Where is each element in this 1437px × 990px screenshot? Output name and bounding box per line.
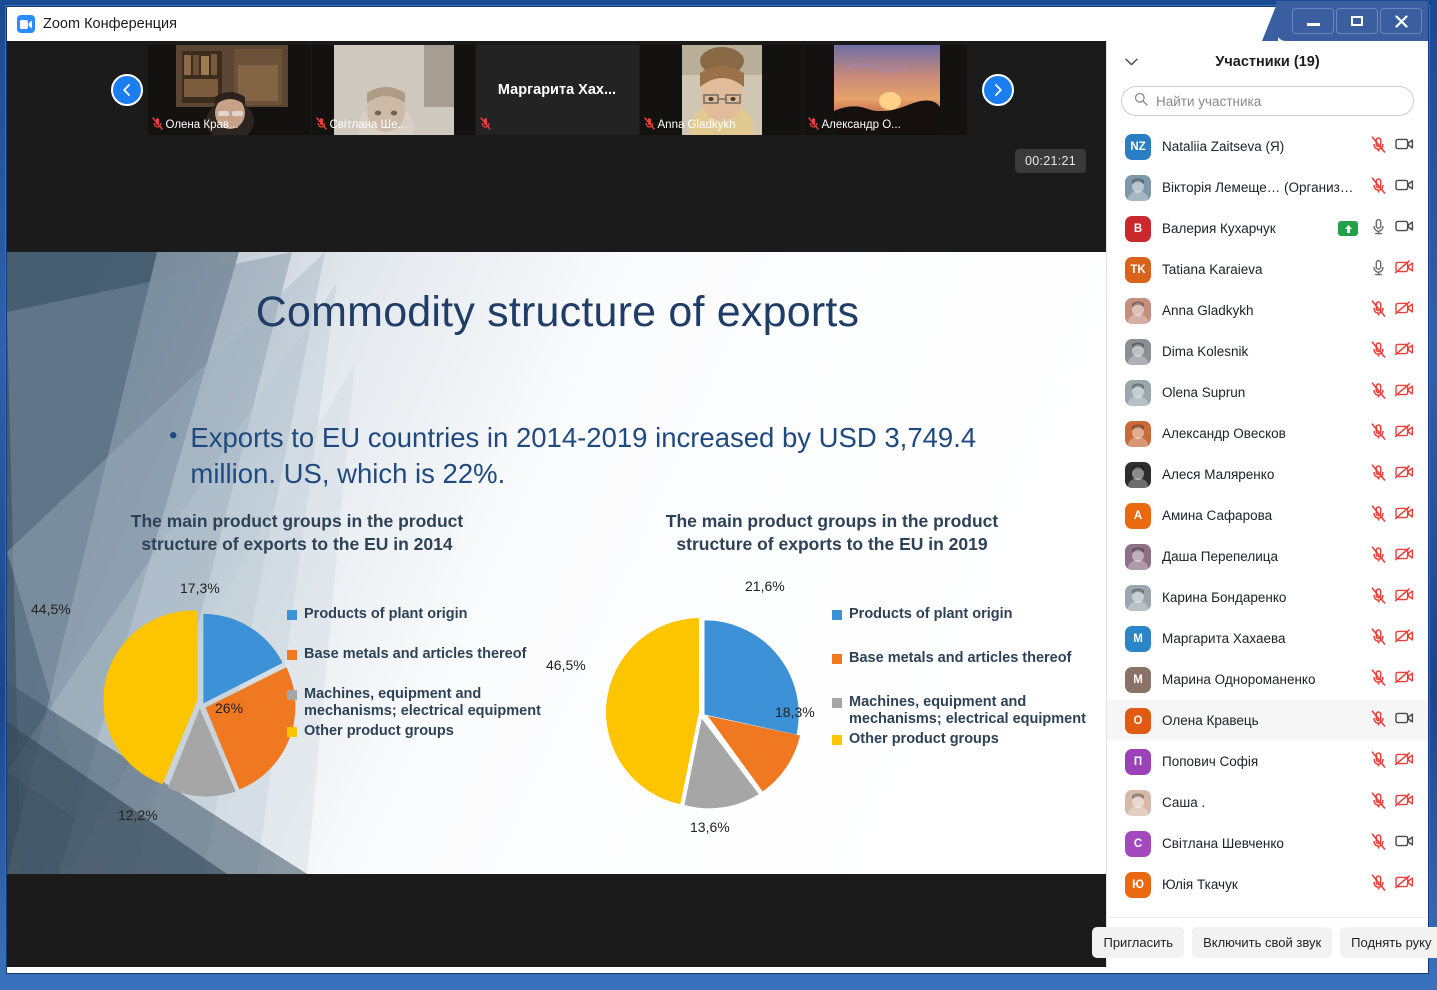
legend-label: Other product groups <box>849 731 999 749</box>
participant-row[interactable]: Вікторія Лемеще… (Организатор) <box>1107 167 1428 208</box>
participant-thumbnail[interactable]: Александр О... <box>804 45 967 135</box>
mic-muted-icon <box>480 117 491 133</box>
camera-off-icon[interactable] <box>1395 260 1414 279</box>
participant-status-icons <box>1371 874 1414 896</box>
camera-off-icon[interactable] <box>1395 424 1414 443</box>
participant-row[interactable]: NZNataliia Zaitseva (Я) <box>1107 126 1428 167</box>
participant-name: Вікторія Лемеще… (Организатор) <box>1162 180 1360 195</box>
participant-name: Марина Однороманенко <box>1162 672 1360 687</box>
chart-legend: Products of plant origin Base metals and… <box>287 606 567 762</box>
page-title: Commodity structure of exports <box>7 288 1108 337</box>
legend-item: Machines, equipment and mechanisms; elec… <box>287 686 567 721</box>
participant-status-icons <box>1371 505 1414 527</box>
pie-label-plant-2014: 17,3% <box>180 580 220 596</box>
participant-name: Олена Кравець <box>1162 713 1360 728</box>
participant-name: Nataliia Zaitseva (Я) <box>1162 139 1360 154</box>
participant-name: Даша Перепелица <box>1162 549 1360 564</box>
chart-title: The main product groups in the product s… <box>17 510 577 556</box>
legend-swatch-grey <box>832 698 842 708</box>
mic-muted-icon[interactable] <box>1371 300 1386 322</box>
legend-swatch-yellow <box>287 727 297 737</box>
participant-row[interactable]: Алеся Маляренко <box>1107 454 1428 495</box>
avatar: TK <box>1125 257 1151 283</box>
participant-name: Anna Gladkykh <box>1162 303 1360 318</box>
participants-title: Участники (19) <box>1215 54 1319 70</box>
pie-chart-2019: The main product groups in the product s… <box>547 510 1108 829</box>
avatar: О <box>1125 708 1151 734</box>
participant-name: Амина Сафарова <box>1162 508 1360 523</box>
participant-name: Юлія Ткачук <box>1162 877 1360 892</box>
mic-muted-icon[interactable] <box>1371 177 1386 199</box>
mic-muted-icon[interactable] <box>1371 874 1386 896</box>
chevron-left-icon[interactable] <box>111 74 143 106</box>
thumbnail-name: Світлана Ше... <box>330 119 408 131</box>
participant-row[interactable]: Anna Gladkykh <box>1107 290 1428 331</box>
mic-muted-icon[interactable] <box>1371 423 1386 445</box>
camera-off-icon[interactable] <box>1395 875 1414 894</box>
legend-label: Machines, equipment and mechanisms; elec… <box>304 686 567 721</box>
thumbnail-list: Олена Крав... <box>148 45 968 135</box>
participant-row[interactable]: ВВалерия Кухарчук <box>1107 208 1428 249</box>
participants-panel-header: Участники (19) <box>1107 41 1428 83</box>
participant-name: Попович Софія <box>1162 754 1360 769</box>
thumbnail-name: Олена Крав... <box>166 119 239 131</box>
window-titlebar: Zoom Конференция <box>7 7 1428 41</box>
pie-label-machines-2019: 13,6% <box>690 819 730 835</box>
legend-label: Base metals and articles thereof <box>304 646 526 664</box>
participant-name: Валерия Кухарчук <box>1162 221 1327 236</box>
search-box[interactable] <box>1121 86 1414 116</box>
search-icon <box>1134 92 1148 111</box>
pie-label-metals-2014: 26% <box>215 700 243 716</box>
mic-muted-icon[interactable] <box>1371 792 1386 814</box>
pie-label-machines-2014: 12,2% <box>118 807 158 823</box>
participant-thumbnail[interactable]: Світлана Ше... <box>312 45 475 135</box>
avatar: NZ <box>1125 134 1151 160</box>
legend-swatch-blue <box>832 610 842 620</box>
participant-row[interactable]: ММаргарита Хахаева <box>1107 618 1428 659</box>
camera-off-icon[interactable] <box>1395 465 1414 484</box>
participants-panel: Участники (19) NZNataliia Zaitseva (Я)Ві… <box>1106 41 1428 967</box>
participant-row[interactable]: TKTatiana Karaieva <box>1107 249 1428 290</box>
avatar: М <box>1125 626 1151 652</box>
mic-muted-icon[interactable] <box>1371 628 1386 650</box>
window-controls <box>1276 1 1428 41</box>
participant-name: Маргарита Хахаева <box>1162 631 1360 646</box>
legend-item: Base metals and articles thereof <box>287 646 567 664</box>
participant-name: Світлана Шевченко <box>1162 836 1360 851</box>
participant-name: Саша . <box>1162 795 1360 810</box>
mic-on-icon[interactable] <box>1371 259 1386 281</box>
legend-item: Products of plant origin <box>832 606 1108 624</box>
participant-status-icons <box>1371 628 1414 650</box>
participant-status-icons <box>1371 423 1414 445</box>
participant-row[interactable]: Dima Kolesnik <box>1107 331 1428 372</box>
mic-muted-icon[interactable] <box>1371 505 1386 527</box>
pie-label-other-2014: 44,5% <box>31 601 71 617</box>
camera-on-icon[interactable] <box>1395 178 1414 197</box>
legend-item: Base metals and articles thereof <box>832 650 1108 668</box>
mic-muted-icon[interactable] <box>1371 587 1386 609</box>
maximize-button[interactable] <box>1336 8 1378 34</box>
legend-label: Other product groups <box>304 723 454 741</box>
zoom-meeting-window: Zoom Конференция <box>6 6 1429 974</box>
legend-label: Products of plant origin <box>304 606 468 624</box>
participant-status-icons <box>1371 587 1414 609</box>
participant-thumbnail[interactable]: Олена Крав... <box>148 45 311 135</box>
invite-button[interactable]: Пригласить <box>1092 927 1184 958</box>
legend-swatch-orange <box>287 650 297 660</box>
participant-name: Александр Овесков <box>1162 426 1360 441</box>
chart-legend: Products of plant origin Base metals and… <box>832 606 1108 774</box>
thumbnail-namebar: Anna Gladkykh <box>640 117 736 133</box>
avatar: С <box>1125 831 1151 857</box>
camera-on-icon[interactable] <box>1395 711 1414 730</box>
participant-status-icons <box>1371 259 1414 281</box>
chart-title: The main product groups in the product s… <box>547 510 1108 556</box>
chart-body: 21,6% 18,3% 13,6% 46,5% Products of plan… <box>547 574 1108 829</box>
avatar: П <box>1125 749 1151 775</box>
participant-status-icons <box>1371 751 1414 773</box>
pie-label-metals-2019: 18,3% <box>775 704 815 720</box>
legend-swatch-grey <box>287 690 297 700</box>
camera-off-icon[interactable] <box>1395 383 1414 402</box>
slide-bullet: • Exports to EU countries in 2014-2019 i… <box>169 420 1029 493</box>
participant-thumbnail[interactable]: Anna Gladkykh <box>640 45 803 135</box>
participant-status-icons <box>1371 546 1414 568</box>
mic-muted-icon <box>644 117 655 133</box>
camera-off-icon[interactable] <box>1395 547 1414 566</box>
participant-row[interactable]: Olena Suprun <box>1107 372 1428 413</box>
legend-label: Machines, equipment and mechanisms; elec… <box>849 694 1108 729</box>
close-button[interactable] <box>1380 8 1422 34</box>
avatar <box>1125 544 1151 570</box>
participant-status-icons <box>1371 382 1414 404</box>
camera-on-icon[interactable] <box>1395 834 1414 853</box>
mic-muted-icon[interactable] <box>1371 382 1386 404</box>
avatar <box>1125 421 1151 447</box>
titlebar-left: Zoom Конференция <box>7 15 177 33</box>
participant-row[interactable]: Александр Овесков <box>1107 413 1428 454</box>
mic-muted-icon[interactable] <box>1371 546 1386 568</box>
participant-status-icons <box>1371 177 1414 199</box>
participant-status-icons <box>1371 710 1414 732</box>
participant-status-icons <box>1371 833 1414 855</box>
participant-thumbnail[interactable]: Маргарита Хах... <box>476 45 639 135</box>
mic-muted-icon[interactable] <box>1371 833 1386 855</box>
participant-status-icons <box>1371 464 1414 486</box>
bullet-text: Exports to EU countries in 2014-2019 inc… <box>190 420 1029 493</box>
raise-hand-button[interactable]: Поднять руку <box>1340 927 1437 958</box>
bullet-marker: • <box>169 420 177 493</box>
participant-status-icons <box>1371 792 1414 814</box>
camera-off-icon[interactable] <box>1395 506 1414 525</box>
thumbnail-namebar: Світлана Ше... <box>312 117 408 133</box>
mic-muted-icon <box>808 117 819 133</box>
meeting-stage: Олена Крав... <box>7 41 1108 967</box>
zoom-video-icon <box>17 15 35 33</box>
search-input[interactable] <box>1156 94 1401 109</box>
search-area <box>1107 83 1428 126</box>
avatar <box>1125 380 1151 406</box>
participant-row[interactable]: ССвітлана Шевченко <box>1107 823 1428 864</box>
video-filmstrip: Олена Крав... <box>7 41 1108 138</box>
participant-status-icons <box>1371 341 1414 363</box>
camera-off-icon[interactable] <box>1395 793 1414 812</box>
participant-status-icons <box>1338 218 1414 240</box>
participant-status-icons <box>1371 136 1414 158</box>
participant-row[interactable]: Саша . <box>1107 782 1428 823</box>
mic-muted-icon[interactable] <box>1371 341 1386 363</box>
legend-label: Products of plant origin <box>849 606 1013 624</box>
participant-name: Dima Kolesnik <box>1162 344 1360 359</box>
thumbnail-namebar <box>476 117 491 133</box>
meeting-timer: 00:21:21 <box>1015 149 1086 173</box>
avatar <box>1125 585 1151 611</box>
participant-row[interactable]: ООлена Кравець <box>1107 700 1428 741</box>
legend-item: Machines, equipment and mechanisms; elec… <box>832 694 1108 729</box>
camera-off-icon[interactable] <box>1395 588 1414 607</box>
thumbnail-namebar: Александр О... <box>804 117 901 133</box>
mic-muted-icon <box>316 117 327 133</box>
camera-off-icon[interactable] <box>1395 629 1414 648</box>
participant-row[interactable]: ММарина Однороманенко <box>1107 659 1428 700</box>
thumbnail-namebar: Олена Крав... <box>148 117 239 133</box>
legend-swatch-blue <box>287 610 297 620</box>
unmute-button[interactable]: Включить свой звук <box>1192 927 1332 958</box>
legend-item: Products of plant origin <box>287 606 567 624</box>
thumbnail-display-name: Маргарита Хах... <box>492 82 622 98</box>
legend-label: Base metals and articles thereof <box>849 650 1071 668</box>
camera-off-icon[interactable] <box>1395 301 1414 320</box>
thumbnail-name: Александр О... <box>822 119 901 131</box>
legend-item: Other product groups <box>287 723 567 741</box>
mic-muted-icon[interactable] <box>1371 669 1386 691</box>
participant-row[interactable]: Даша Перепелица <box>1107 536 1428 577</box>
pie-graphic <box>102 602 302 802</box>
legend-item: Other product groups <box>832 731 1108 749</box>
participant-status-icons <box>1371 300 1414 322</box>
chevron-right-icon[interactable] <box>982 74 1014 106</box>
participant-status-icons <box>1371 669 1414 691</box>
participants-footer: Пригласить Включить свой звук Поднять ру… <box>1107 917 1428 967</box>
mic-muted-icon[interactable] <box>1371 751 1386 773</box>
participant-row[interactable]: Карина Бондаренко <box>1107 577 1428 618</box>
mic-muted-icon[interactable] <box>1371 136 1386 158</box>
shared-slide: Commodity structure of exports • Exports… <box>7 252 1108 874</box>
avatar <box>1125 175 1151 201</box>
mic-on-icon[interactable] <box>1371 218 1386 240</box>
minimize-button[interactable] <box>1292 8 1334 34</box>
participant-name: Алеся Маляренко <box>1162 467 1360 482</box>
camera-off-icon[interactable] <box>1395 752 1414 771</box>
pie-chart-2014: The main product groups in the product s… <box>17 510 577 829</box>
participant-row[interactable]: ЮЮлія Ткачук <box>1107 864 1428 905</box>
participant-row[interactable]: ААмина Сафарова <box>1107 495 1428 536</box>
participant-name: Tatiana Karaieva <box>1162 262 1360 277</box>
camera-off-icon[interactable] <box>1395 670 1414 689</box>
participant-name: Карина Бондаренко <box>1162 590 1360 605</box>
pie-label-plant-2019: 21,6% <box>745 578 785 594</box>
legend-swatch-orange <box>832 654 842 664</box>
avatar: М <box>1125 667 1151 693</box>
raise-hand-icon <box>1338 221 1358 236</box>
thumbnail-name: Anna Gladkykh <box>658 119 736 131</box>
participant-name: Olena Suprun <box>1162 385 1360 400</box>
chart-body: 17,3% 26% 12,2% 44,5% Products of plant … <box>17 574 577 829</box>
avatar <box>1125 298 1151 324</box>
avatar: А <box>1125 503 1151 529</box>
window-title: Zoom Конференция <box>43 16 177 32</box>
chevron-down-icon[interactable] <box>1125 53 1138 71</box>
participants-list[interactable]: NZNataliia Zaitseva (Я)Вікторія Лемеще… … <box>1107 126 1428 917</box>
avatar: Ю <box>1125 872 1151 898</box>
pie-label-other-2019: 46,5% <box>546 657 586 673</box>
mic-muted-icon <box>152 117 163 133</box>
legend-swatch-yellow <box>832 735 842 745</box>
camera-on-icon[interactable] <box>1395 137 1414 156</box>
camera-on-icon[interactable] <box>1395 219 1414 238</box>
mic-muted-icon[interactable] <box>1371 710 1386 732</box>
avatar <box>1125 339 1151 365</box>
mic-muted-icon[interactable] <box>1371 464 1386 486</box>
participant-row[interactable]: ППопович Софія <box>1107 741 1428 782</box>
avatar <box>1125 462 1151 488</box>
avatar: В <box>1125 216 1151 242</box>
camera-off-icon[interactable] <box>1395 342 1414 361</box>
avatar <box>1125 790 1151 816</box>
